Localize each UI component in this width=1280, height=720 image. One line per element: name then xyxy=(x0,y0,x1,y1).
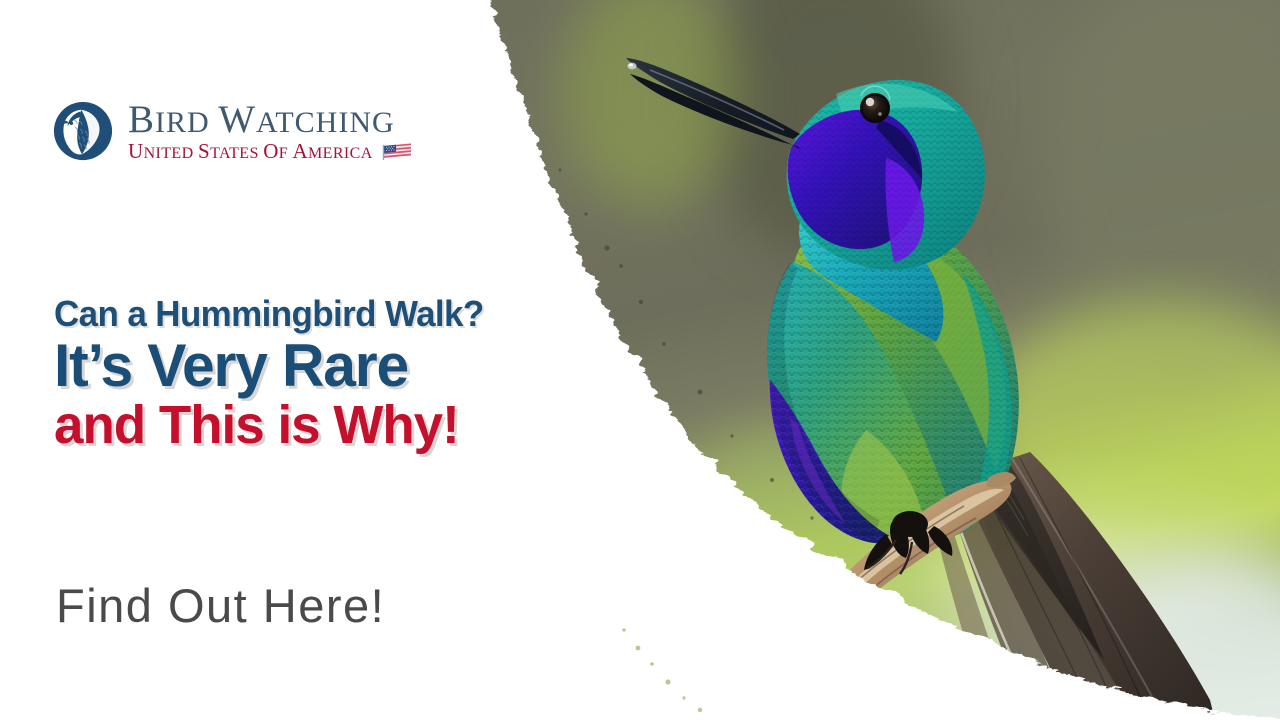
sub-f: F xyxy=(279,145,293,162)
brand-title-cap-w: W xyxy=(218,98,256,141)
usa-flag-icon xyxy=(382,142,413,162)
headline-block: Can a Hummingbird Walk? It’s Very Rare a… xyxy=(54,296,654,452)
headline-line-3: and This is Why! xyxy=(54,398,642,452)
headline-line-1: Can a Hummingbird Walk? xyxy=(54,296,636,332)
eagle-head-in-circle-icon xyxy=(52,100,114,162)
sub-merica: MERICA xyxy=(308,145,373,162)
sub-cap-s: S xyxy=(198,139,210,163)
brand-subtitle-row: UNITED STATES OF AMERICA xyxy=(128,141,413,162)
brand-wordmark: BIRD WATCHING UNITED STATES OF AMERICA xyxy=(128,100,413,162)
sub-cap-u: U xyxy=(128,139,144,163)
brand-subtitle: UNITED STATES OF AMERICA xyxy=(128,141,373,162)
brand-title-atching: ATCHING xyxy=(256,106,395,139)
promo-banner: BIRD WATCHING UNITED STATES OF AMERICA xyxy=(0,0,1280,720)
sub-tates: TATES xyxy=(210,145,263,162)
headline-line-2: It’s Very Rare xyxy=(54,336,642,396)
brand-title-ird: IRD xyxy=(155,106,218,139)
brand-title-cap-b: B xyxy=(128,98,155,141)
brand-logo[interactable]: BIRD WATCHING UNITED STATES OF AMERICA xyxy=(52,100,413,162)
brand-title: BIRD WATCHING xyxy=(128,100,413,139)
sub-nited: NITED xyxy=(144,145,198,162)
sub-cap-a: A xyxy=(292,139,308,163)
cta-text[interactable]: Find Out Here! xyxy=(56,578,385,633)
sub-cap-o: O xyxy=(263,139,279,163)
